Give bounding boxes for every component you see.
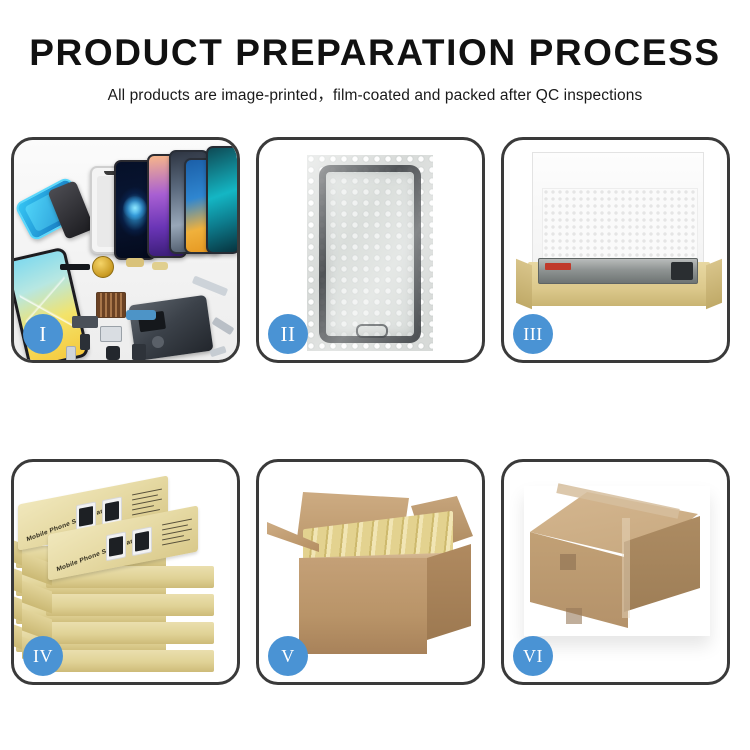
box-screen-thumb-icon bbox=[132, 526, 152, 556]
part-bracket-icon bbox=[100, 326, 122, 342]
speaker-coil-icon bbox=[92, 256, 114, 278]
box-spec-line bbox=[162, 539, 190, 546]
chip-grid-icon bbox=[96, 292, 126, 318]
header: PRODUCT PREPARATION PROCESS All products… bbox=[0, 0, 750, 105]
part-gold-flex-icon bbox=[126, 258, 144, 267]
step-panel-6: VI bbox=[501, 459, 730, 685]
wrapped-product-icon bbox=[538, 258, 698, 284]
carton-side-icon bbox=[427, 544, 471, 640]
box-edge-icon bbox=[46, 622, 214, 644]
part-gold-chip-icon bbox=[152, 262, 168, 270]
teal-phone-icon bbox=[206, 146, 237, 254]
page-title: PRODUCT PREPARATION PROCESS bbox=[0, 34, 750, 73]
step-badge-2: II bbox=[268, 314, 308, 354]
part-button-icon bbox=[80, 334, 90, 350]
part-home-button-icon bbox=[152, 336, 164, 348]
step-badge-5: V bbox=[268, 636, 308, 676]
process-steps-grid: I II III bbox=[11, 137, 739, 685]
part-strip-icon bbox=[60, 264, 90, 270]
part-connector-icon bbox=[72, 316, 98, 328]
step-badge-3: III bbox=[513, 314, 553, 354]
wrapped-screen-icon bbox=[319, 165, 421, 343]
step-badge-4: IV bbox=[23, 636, 63, 676]
box-screen-thumb-icon bbox=[106, 531, 126, 561]
step-panel-3: III bbox=[501, 137, 730, 363]
step-panel-5: V bbox=[256, 459, 485, 685]
part-speaker-icon bbox=[132, 344, 146, 360]
carton-front-icon bbox=[299, 558, 427, 654]
box-spec-line bbox=[162, 529, 192, 536]
box-edge-icon bbox=[46, 650, 214, 672]
carton-mark-icon bbox=[560, 554, 576, 570]
part-blue-flex-icon bbox=[126, 310, 156, 320]
step-badge-6: VI bbox=[513, 636, 553, 676]
product-label-icon bbox=[545, 263, 571, 270]
part-sim-tray-icon bbox=[66, 346, 76, 360]
part-camera-icon bbox=[106, 346, 120, 360]
step-panel-4: Mobile Phone Spare Parts Mobile Phone Sp… bbox=[11, 459, 240, 685]
step-panel-1: I bbox=[11, 137, 240, 363]
bubble-wrap-sheet-icon bbox=[307, 155, 433, 351]
page-subtitle: All products are image-printed，film-coat… bbox=[0, 83, 750, 105]
foam-padding-icon bbox=[542, 188, 698, 266]
carton-edge-tape-icon bbox=[622, 518, 630, 618]
step-badge-1: I bbox=[23, 314, 63, 354]
box-spec-line bbox=[132, 499, 162, 506]
product-preparation-infographic: PRODUCT PREPARATION PROCESS All products… bbox=[0, 0, 750, 750]
box-edge-icon bbox=[46, 594, 214, 616]
step-panel-2: II bbox=[256, 137, 485, 363]
carton-mark-icon bbox=[566, 608, 582, 624]
